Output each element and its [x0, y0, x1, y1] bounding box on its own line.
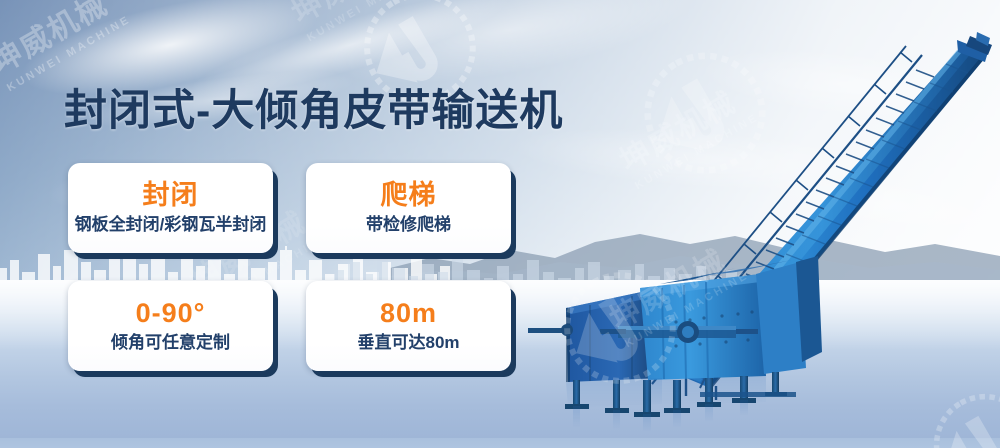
feature-card-subtitle: 带检修爬梯 — [366, 216, 451, 235]
feature-card-ladder[interactable]: 爬梯 带检修爬梯 — [306, 163, 511, 253]
bottom-strip — [0, 438, 1000, 448]
feature-card-row: 封闭 钢板全封闭/彩钢瓦半封闭 爬梯 带检修爬梯 — [68, 163, 538, 253]
feature-card-title: 80m — [380, 299, 437, 327]
feature-card-grid: 封闭 钢板全封闭/彩钢瓦半封闭 爬梯 带检修爬梯 0-90° 倾角可任意定制 8… — [68, 163, 538, 371]
feature-card-subtitle: 垂直可达80m — [357, 334, 459, 353]
feature-card-height[interactable]: 80m 垂直可达80m — [306, 281, 511, 371]
feature-card-subtitle: 钢板全封闭/彩钢瓦半封闭 — [75, 216, 267, 235]
feature-card-title: 封闭 — [143, 181, 199, 209]
product-banner: 坤威机械 KUNWEI MACHINE 坤威机械 KUNWEI MACHINE … — [0, 0, 1000, 448]
feature-card-title: 爬梯 — [381, 181, 437, 209]
feature-card-title: 0-90° — [136, 299, 206, 327]
feature-card-subtitle: 倾角可任意定制 — [111, 334, 230, 353]
feature-card-angle[interactable]: 0-90° 倾角可任意定制 — [68, 281, 273, 371]
page-title: 封闭式-大倾角皮带输送机 — [64, 76, 563, 138]
feature-card-row: 0-90° 倾角可任意定制 80m 垂直可达80m — [68, 281, 538, 371]
feature-card-enclosure[interactable]: 封闭 钢板全封闭/彩钢瓦半封闭 — [68, 163, 273, 253]
